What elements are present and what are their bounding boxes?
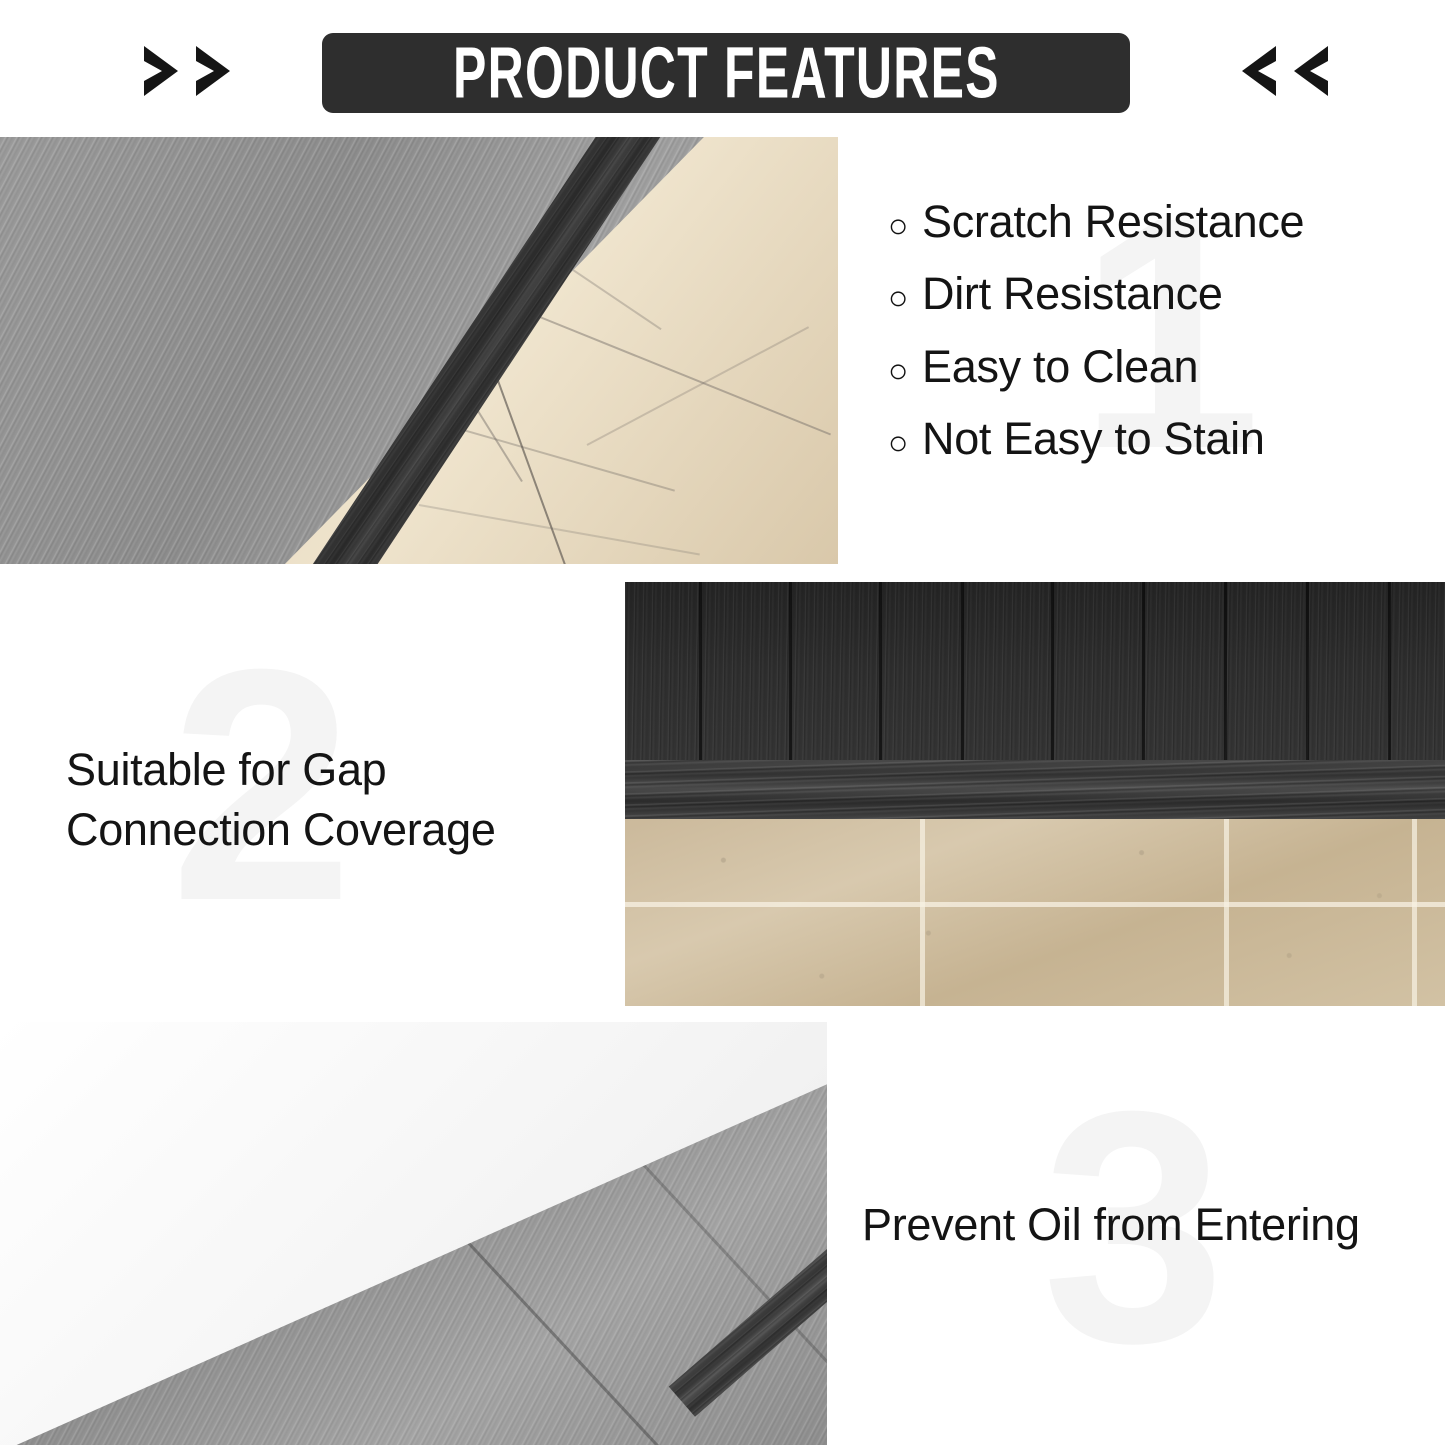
list-item: ○ Not Easy to Stain <box>888 415 1408 462</box>
list-item: ○ Scratch Resistance <box>888 198 1408 245</box>
right-chevron-group <box>1238 43 1332 99</box>
page-title: PRODUCT FEATURES <box>453 37 1000 109</box>
photo-gray-wood-to-marble-tile-diagonal-transition <box>0 137 838 564</box>
feature-label: Dirt Resistance <box>922 270 1223 317</box>
product-features-infographic: PRODUCT FEATURES <box>0 0 1445 1445</box>
left-chevron-group <box>140 43 234 99</box>
chevron-right-icon <box>192 43 234 99</box>
dark-wood-planks-area <box>625 582 1445 760</box>
feature-label: Not Easy to Stain <box>922 415 1265 462</box>
circle-bullet-icon: ○ <box>888 209 922 243</box>
circle-bullet-icon: ○ <box>888 281 922 315</box>
feature-list-section-1: ○ Scratch Resistance ○ Dirt Resistance ○… <box>888 198 1408 487</box>
page-title-banner: PRODUCT FEATURES <box>322 33 1130 113</box>
transition-strip <box>625 760 1445 819</box>
feature-label: Scratch Resistance <box>922 198 1304 245</box>
circle-bullet-icon: ○ <box>888 354 922 388</box>
caption-section-3: Prevent Oil from Entering <box>862 1195 1422 1255</box>
travertine-tile-area <box>625 819 1445 1006</box>
caption-line-1: Prevent Oil from Entering <box>862 1195 1422 1255</box>
caption-line-1: Suitable for Gap <box>66 740 586 800</box>
header: PRODUCT FEATURES <box>0 0 1445 135</box>
photo-white-surface-to-gray-wood-diagonal-transition <box>0 1022 827 1445</box>
photo-dark-planks-to-travertine-tile-horizontal-transition <box>625 582 1445 1006</box>
list-item: ○ Easy to Clean <box>888 343 1408 390</box>
chevron-left-icon <box>1290 43 1332 99</box>
caption-line-2: Connection Coverage <box>66 800 586 860</box>
caption-section-2: Suitable for Gap Connection Coverage <box>66 740 586 860</box>
chevron-right-icon <box>140 43 182 99</box>
chevron-left-icon <box>1238 43 1280 99</box>
list-item: ○ Dirt Resistance <box>888 270 1408 317</box>
circle-bullet-icon: ○ <box>888 426 922 460</box>
feature-label: Easy to Clean <box>922 343 1198 390</box>
